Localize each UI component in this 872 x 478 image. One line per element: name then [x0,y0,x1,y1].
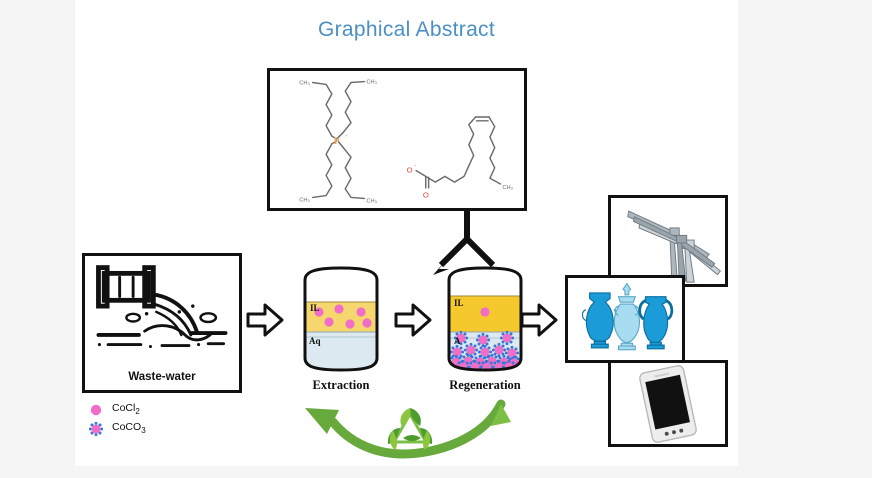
vase-middle [614,284,639,350]
product-box-vases [565,275,685,363]
carboxylate-charge-label: - [414,163,416,169]
cation-terminal-label-3: CH₃ [299,197,310,203]
regeneration-vessel: IL A Regeneration [439,266,531,396]
product-box-turbine [608,195,728,287]
smartphone-icon [611,363,725,444]
extraction-aq-label: Aq [309,336,321,346]
arrow-extraction-to-regeneration [393,300,433,340]
graphical-abstract-panel: Graphical Abstract [75,0,738,466]
extraction-caption: Extraction [295,378,387,393]
ionic-liquid-structure-box: P + CH₃ CH₃ CH₃ CH₃ O - O CH₃ [267,68,527,211]
carboxylate-oxygen-label: O [407,166,413,175]
screenshot-canvas: Graphical Abstract [0,0,872,478]
legend-label-coco3: CoCO3 [112,421,146,435]
pipe-discharge-icon [85,256,239,361]
extraction-il-label: IL [310,303,320,313]
legend-label-cocl2: CoCl2 [112,402,140,416]
legend-item-coco3: CoCO3 [89,419,239,438]
recycle-leaf-icon [388,408,432,450]
cation-terminal-label-4: CH₃ [366,198,377,204]
cation-terminal-label-1: CH₃ [299,80,310,86]
waste-water-box: Waste-water [82,253,242,393]
waste-water-label: Waste-water [85,371,239,383]
anion-terminal-label: CH₃ [502,185,513,191]
regeneration-caption: Regeneration [439,378,531,393]
cocl2-particle [480,307,489,316]
arrow-regeneration-to-products [519,300,559,340]
wind-turbine-icon [611,198,725,284]
regeneration-aq-label: A [454,336,461,346]
vase-left [582,293,617,348]
coco3-particle-icon [89,422,103,436]
extraction-vessel: IL Aq Extraction [295,266,387,396]
regeneration-il-label: IL [454,298,464,308]
product-box-phone [608,360,728,447]
phosphorus-atom-label: P [334,136,340,147]
cocl2-particle-icon [89,403,103,417]
ceramic-vases-icon [568,278,682,360]
carbonyl-oxygen-label: O [423,190,429,199]
page-title: Graphical Abstract [75,18,738,42]
vase-right [640,297,672,349]
legend-item-cocl2: CoCl2 [89,400,239,419]
cation-terminal-label-2: CH₃ [366,79,377,85]
phosphorus-charge-label: + [344,133,348,140]
arrow-wastewater-to-extraction [245,300,285,340]
recycling-loop [285,396,535,464]
legend: CoCl2 CoCO3 [89,400,239,438]
